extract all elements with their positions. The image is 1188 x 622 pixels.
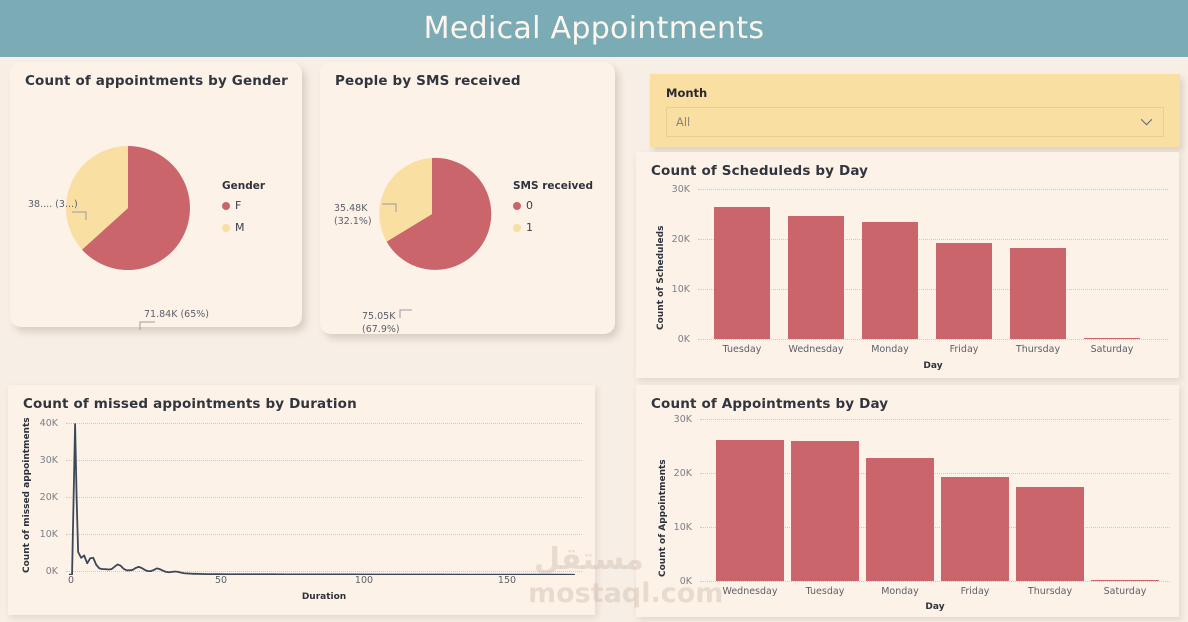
legend-dot-m: [222, 224, 230, 232]
duration-xtick-50: 50: [208, 575, 234, 586]
appointments-xtick-monday: Monday: [864, 586, 936, 597]
scheduled-ytick-10k: 10K: [658, 284, 690, 295]
card-scheduled-by-day: Count of Scheduleds by Day Count of Sche…: [636, 152, 1179, 378]
dashboard-header: Medical Appointments: [0, 0, 1188, 57]
card-appointments-by-day: Count of Appointments by Day Count of Ap…: [636, 385, 1179, 617]
sms-legend-title: SMS received: [513, 180, 593, 192]
legend-item-f[interactable]: F: [222, 199, 265, 212]
month-slicer[interactable]: Month All: [650, 74, 1180, 147]
duration-xtick-150: 150: [492, 575, 522, 586]
bar-saturday[interactable]: [1091, 580, 1159, 581]
appointments-xtick-thursday: Thursday: [1014, 586, 1086, 597]
month-slicer-label: Month: [666, 86, 707, 100]
card-sms-pie: People by SMS received 35.48K (32.1%) 75…: [320, 62, 615, 334]
sms-pie-legend: SMS received 0 1: [513, 180, 593, 243]
duration-line-chart[interactable]: [66, 419, 584, 575]
gender-pie-label-m: 38.... (3...): [28, 198, 78, 211]
bar-monday[interactable]: [866, 458, 934, 581]
scheduled-xtick-thursday: Thursday: [1010, 344, 1066, 355]
appointments-xtick-friday: Friday: [939, 586, 1011, 597]
gridline: [700, 581, 1170, 582]
gender-pie-legend: Gender F M: [222, 180, 265, 243]
legend-label-0: 0: [526, 199, 533, 212]
appointments-x-axis-title: Day: [700, 602, 1170, 612]
duration-ytick-20k: 20K: [26, 492, 58, 503]
legend-item-1[interactable]: 1: [513, 221, 593, 234]
duration-x-axis-title: Duration: [66, 592, 582, 602]
legend-dot-f: [222, 202, 230, 210]
sms-pie-label-0: 75.05K (67.9%): [362, 310, 400, 336]
duration-ytick-30k: 30K: [26, 455, 58, 466]
legend-item-m[interactable]: M: [222, 221, 265, 234]
gridline: [700, 419, 1170, 420]
appointments-ytick-30k: 30K: [660, 414, 692, 425]
sms-pie-title: People by SMS received: [335, 73, 521, 89]
appointments-ytick-20k: 20K: [660, 468, 692, 479]
duration-line-title: Count of missed appointments by Duration: [23, 396, 357, 412]
card-gender-pie: Count of appointments by Gender 38.... (…: [10, 62, 302, 327]
appointments-xtick-saturday: Saturday: [1089, 586, 1161, 597]
scheduled-x-axis-title: Day: [698, 361, 1168, 371]
month-slicer-value: All: [676, 115, 690, 129]
bar-wednesday[interactable]: [788, 216, 844, 339]
gender-pie-title: Count of appointments by Gender: [25, 73, 288, 89]
scheduled-xtick-wednesday: Wednesday: [784, 344, 848, 355]
bar-saturday[interactable]: [1084, 338, 1140, 340]
scheduled-xtick-friday: Friday: [936, 344, 992, 355]
scheduled-xtick-saturday: Saturday: [1082, 344, 1142, 355]
bar-thursday[interactable]: [1016, 487, 1084, 581]
legend-dot-1: [513, 224, 521, 232]
duration-xtick-0: 0: [58, 575, 84, 586]
appointments-xtick-tuesday: Tuesday: [789, 586, 861, 597]
scheduled-ytick-30k: 30K: [658, 184, 690, 195]
legend-label-f: F: [235, 199, 241, 212]
gridline: [698, 189, 1168, 190]
gender-legend-title: Gender: [222, 180, 265, 192]
bar-thursday[interactable]: [1010, 248, 1066, 340]
chevron-down-icon[interactable]: [1140, 118, 1153, 126]
appointments-ytick-10k: 10K: [660, 522, 692, 533]
sms-pie-leaders: [334, 146, 524, 336]
appointments-bar-title: Count of Appointments by Day: [651, 396, 888, 412]
appointments-ytick-0k: 0K: [660, 576, 692, 587]
bar-monday[interactable]: [862, 222, 918, 340]
duration-xtick-100: 100: [349, 575, 379, 586]
duration-ytick-10k: 10K: [26, 529, 58, 540]
bar-friday[interactable]: [936, 243, 992, 340]
duration-ytick-40k: 40K: [26, 418, 58, 429]
scheduled-ytick-0k: 0K: [658, 334, 690, 345]
scheduled-bar-title: Count of Scheduleds by Day: [651, 163, 868, 179]
legend-label-1: 1: [526, 221, 533, 234]
scheduled-ytick-20k: 20K: [658, 234, 690, 245]
appointments-xtick-wednesday: Wednesday: [714, 586, 786, 597]
scheduled-xtick-monday: Monday: [862, 344, 918, 355]
bar-wednesday[interactable]: [716, 440, 784, 581]
legend-label-m: M: [235, 221, 245, 234]
sms-pie-label-1: 35.48K (32.1%): [334, 202, 372, 228]
card-duration-line: Count of missed appointments by Duration…: [8, 385, 595, 615]
dashboard-page: Medical Appointments Count of appointmen…: [0, 0, 1188, 622]
scheduled-xtick-tuesday: Tuesday: [714, 344, 770, 355]
bar-tuesday[interactable]: [791, 441, 859, 581]
bar-friday[interactable]: [941, 477, 1009, 581]
legend-item-0[interactable]: 0: [513, 199, 593, 212]
bar-tuesday[interactable]: [714, 207, 770, 340]
legend-dot-0: [513, 202, 521, 210]
gridline: [698, 339, 1168, 340]
page-title: Medical Appointments: [424, 11, 765, 46]
gender-pie-leaders: [20, 140, 220, 330]
gender-pie-label-f: 71.84K (65%): [144, 308, 209, 321]
duration-ytick-0k: 0K: [26, 566, 58, 577]
month-slicer-dropdown[interactable]: All: [666, 107, 1164, 137]
